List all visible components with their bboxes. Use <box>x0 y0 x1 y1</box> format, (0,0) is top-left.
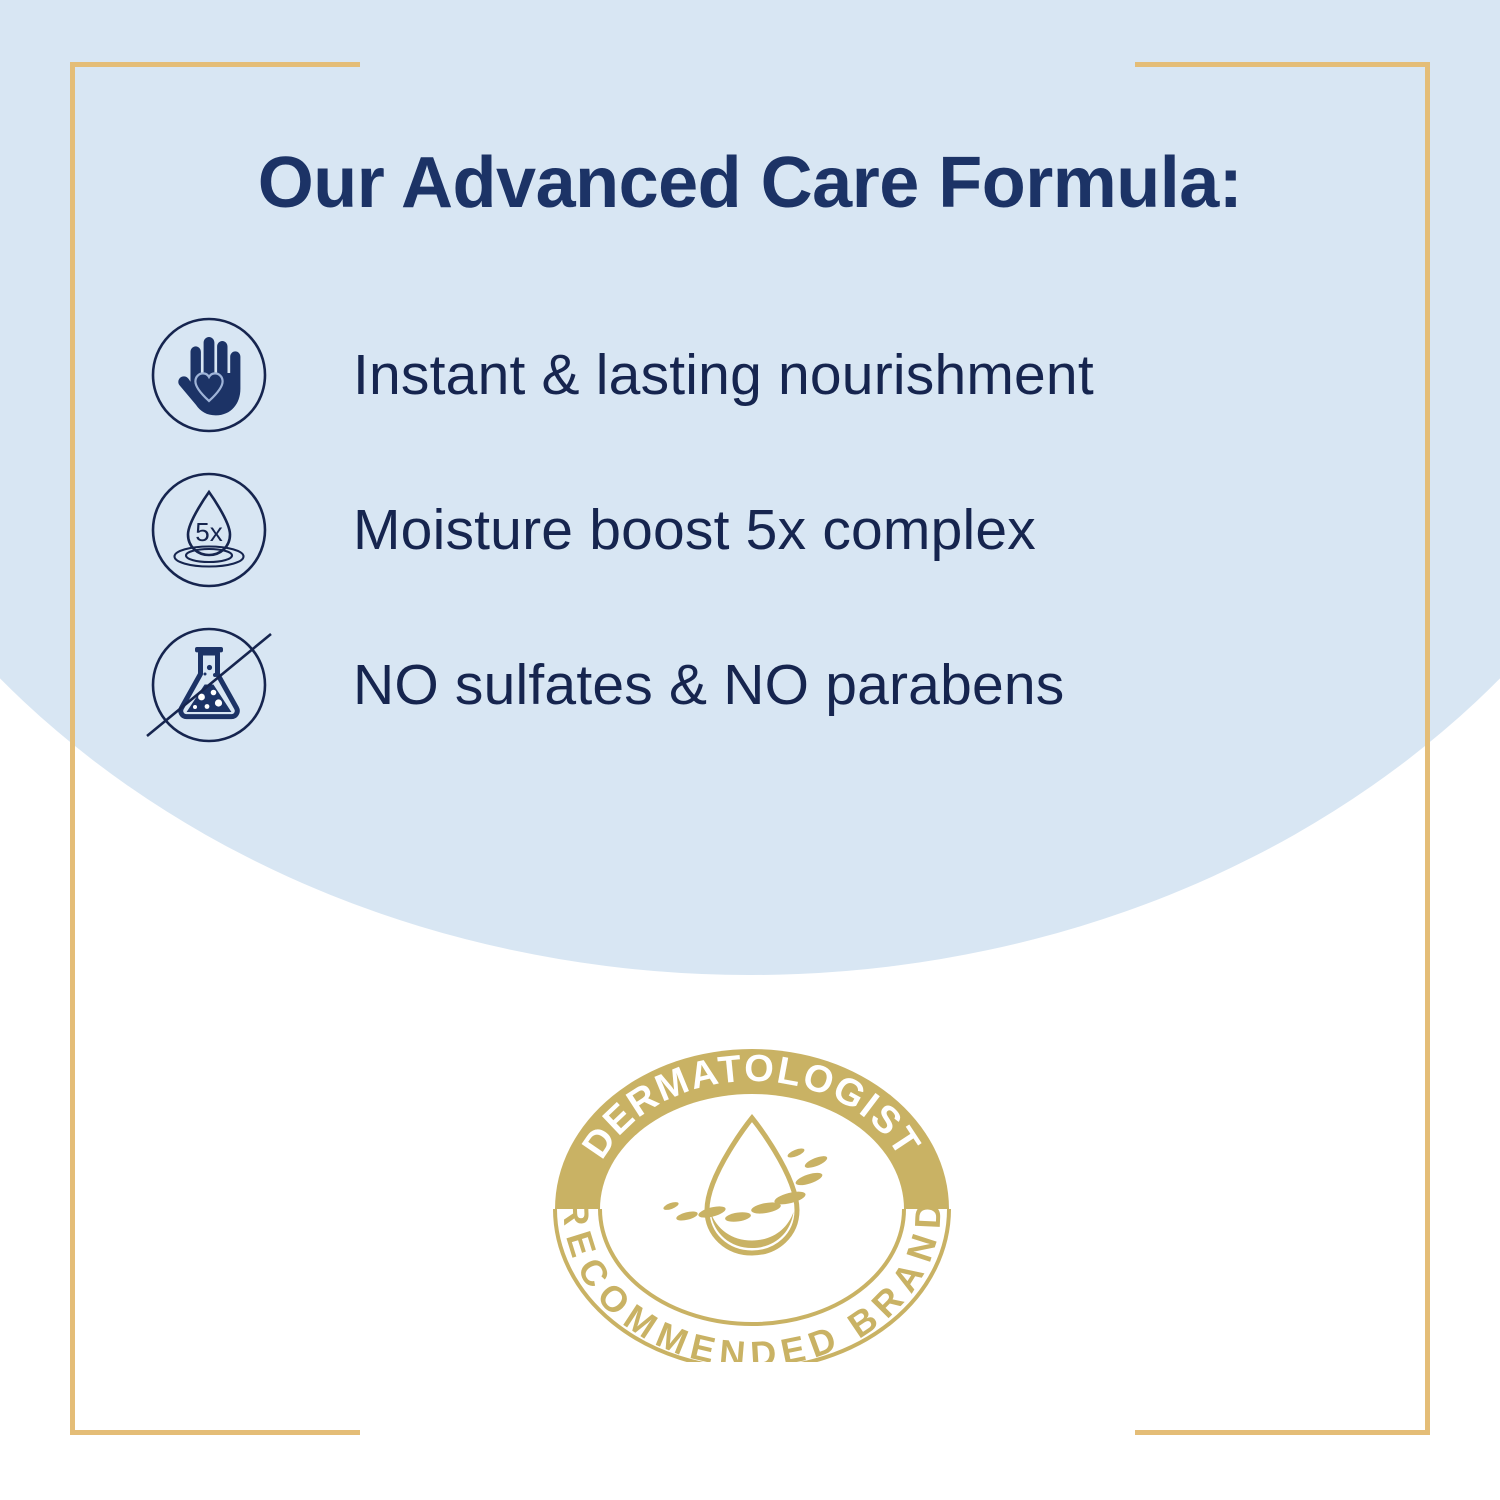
corner-bracket-top-right <box>1135 62 1430 1434</box>
bracket-line-vertical <box>70 62 75 1434</box>
corner-bracket-bottom-right <box>1135 1430 1430 1435</box>
benefit-label: Instant & lasting nourishment <box>353 347 1094 404</box>
benefit-label: Moisture boost 5x complex <box>353 502 1036 559</box>
benefit-label: NO sulfates & NO parabens <box>353 657 1065 714</box>
corner-bracket-bottom-left <box>70 1430 360 1435</box>
bracket-line-horizontal <box>70 1430 360 1435</box>
bracket-line-horizontal <box>1135 1430 1430 1435</box>
bracket-line-vertical <box>1425 62 1430 1434</box>
bracket-line-horizontal <box>1135 62 1430 67</box>
dermatologist-recommended-seal: DERMATOLOGIST RECOMMENDED BRAND <box>552 1046 952 1362</box>
corner-bracket-top-left <box>70 62 360 1434</box>
bracket-line-horizontal <box>70 62 360 67</box>
product-feature-card: Our Advanced Care Formula: Instant & las… <box>0 0 1500 1500</box>
seal-bottom-text: RECOMMENDED BRAND <box>555 1199 949 1362</box>
